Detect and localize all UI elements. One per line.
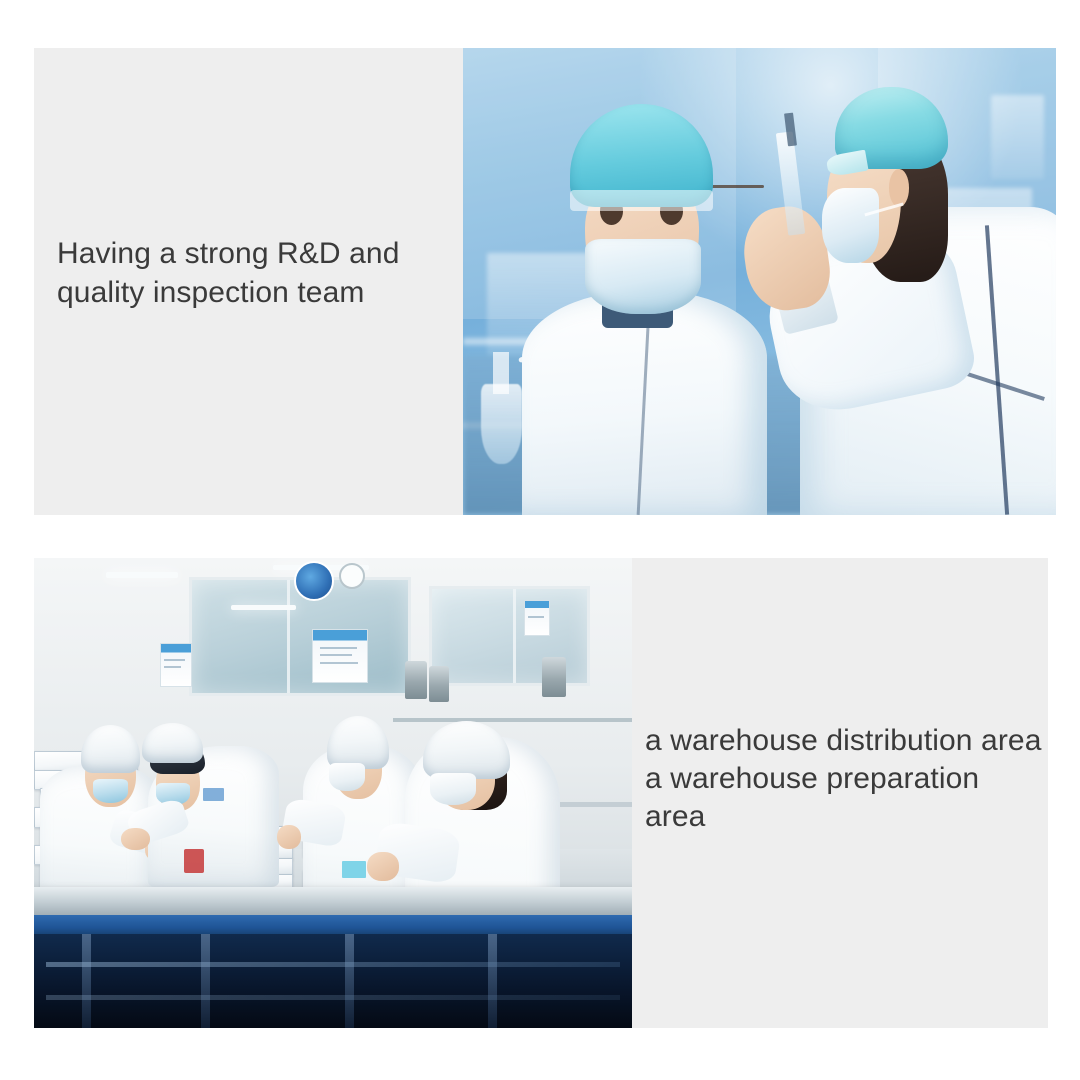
ear	[889, 169, 909, 206]
wall-placard-left	[160, 643, 192, 687]
lab-worker-profile	[724, 48, 1056, 515]
placard-line-b	[164, 666, 181, 668]
window-mullion-right	[513, 589, 516, 683]
metal-canister-2	[429, 666, 449, 702]
hand	[367, 852, 398, 881]
placard-line-3	[320, 662, 359, 664]
hand	[277, 825, 301, 849]
safety-sign-icon	[294, 561, 334, 601]
warehouse-scene-illustration	[34, 558, 632, 1028]
coat-badge	[203, 788, 224, 801]
table-leg	[488, 934, 497, 1028]
lab-face-mask	[585, 239, 702, 314]
table-leg	[345, 934, 354, 1028]
placard-line-2	[320, 654, 352, 656]
teal-product-chip	[342, 861, 366, 878]
warehouse-panel: a warehouse distribution area a warehous…	[34, 558, 1048, 1028]
white-face-mask	[430, 773, 477, 805]
warehouse-caption: a warehouse distribution area a warehous…	[632, 722, 1048, 836]
under-table-area	[34, 934, 632, 1028]
table-cross-rail-2	[46, 995, 620, 1000]
white-face-mask	[329, 763, 365, 791]
rd-quality-caption: Having a strong R&D and quality inspecti…	[34, 235, 411, 311]
blue-face-mask	[93, 779, 129, 803]
wall-clock-icon	[339, 563, 365, 589]
red-object	[184, 849, 205, 873]
lab-quality-inspection-photo	[463, 48, 1056, 515]
face-mask-profile	[822, 188, 879, 263]
lab-surgical-cap-band	[570, 190, 712, 211]
table-cross-rail	[46, 962, 620, 967]
page-root: Having a strong R&D and quality inspecti…	[0, 0, 1080, 1080]
warehouse-worker-bending	[148, 746, 280, 887]
lab-flask-neck	[493, 352, 508, 394]
table-leg	[82, 934, 91, 1028]
metal-canister	[405, 661, 427, 699]
steel-worktable-top	[34, 887, 632, 918]
ceiling-light-strip	[106, 572, 178, 578]
rd-quality-panel: Having a strong R&D and quality inspecti…	[34, 48, 1056, 515]
table-leg	[201, 934, 210, 1028]
window-ceiling-light	[231, 605, 296, 610]
placard-line	[320, 647, 358, 649]
placard-line-a	[164, 659, 184, 661]
back-shelf	[393, 718, 632, 722]
warehouse-caption-column: a warehouse distribution area a warehous…	[632, 558, 1048, 1028]
lab-scene-illustration	[463, 48, 1056, 515]
warehouse-packing-photo	[34, 558, 632, 1028]
wall-placard	[312, 629, 368, 683]
rd-quality-caption-column: Having a strong R&D and quality inspecti…	[34, 48, 463, 515]
wall-placard-right	[524, 600, 550, 636]
metal-canister-3	[542, 657, 566, 697]
window-mullion	[287, 580, 290, 693]
hand	[121, 828, 150, 851]
lab-worker-head-profile	[827, 95, 951, 282]
placard-line-c	[528, 616, 543, 618]
